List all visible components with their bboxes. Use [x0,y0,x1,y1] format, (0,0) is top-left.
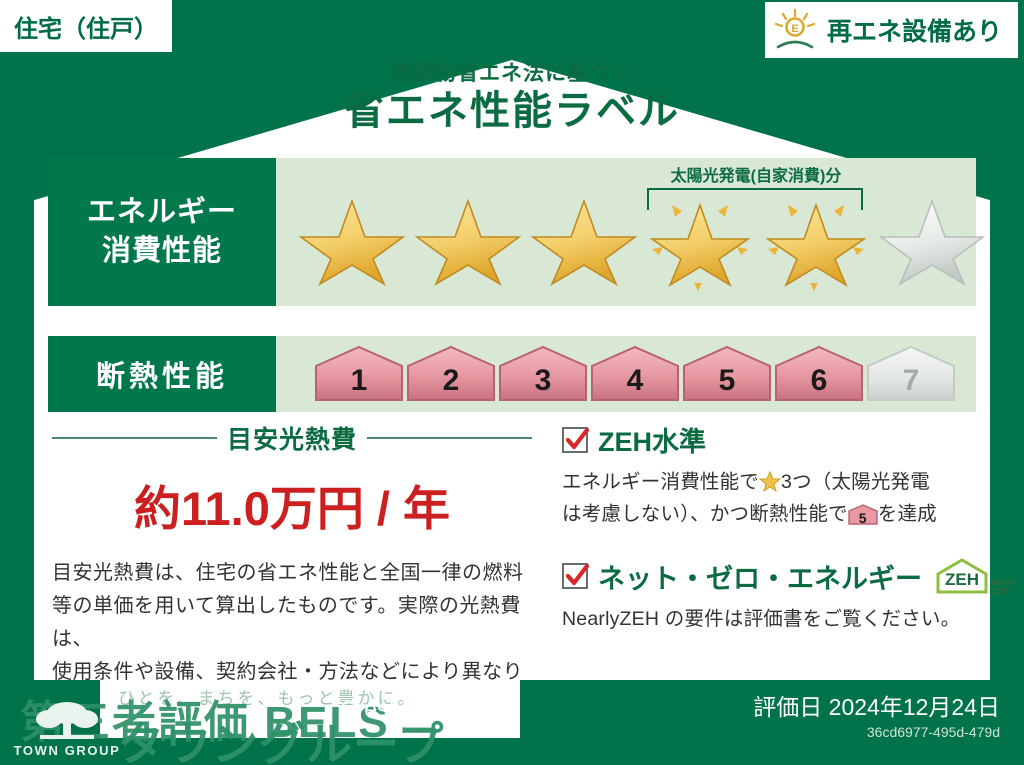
unit-room-number: 301 [448,696,486,722]
energy-key-line1: エネルギー [87,193,237,232]
star-filled-solar-icon [642,187,758,291]
tree-logo-icon [8,698,126,742]
zeh-desc-part-1: エネルギー消費性能で [562,471,759,493]
cost-note-line-1: 目安光熱費は、住宅の省エネ性能と全国一律の燃料 [52,557,532,590]
solar-bracket-label: 太陽光発電(自家消費)分 [626,162,886,186]
insulation-level-number: 5 [682,364,772,398]
insulation-house-icon: 5 [682,344,772,404]
insulation-house-icon: 2 [406,344,496,404]
zeh-desc-part-2: 3つ（太陽光発電 [781,471,930,493]
insulation-house-empty-icon: 7 [866,344,956,404]
evaluation-date: 評価日 2024年12月24日 [753,688,1000,722]
insulation-house-icon: 6 [774,344,864,404]
zeh-logo-sub-2: ZEH [992,587,1008,596]
energy-key-line2: 消費性能 [102,232,222,271]
star-rating [276,187,990,291]
zeh-desc-part-4: を達成 [878,503,937,525]
insulation-performance-value: 1 2 3 4 5 [276,336,976,412]
estimated-cost-label: 目安光熱費 [227,420,357,456]
label-subtitle: 建築物省エネ法に基づく [0,62,1024,85]
insulation-house-icon: 3 [498,344,588,404]
evaluation-date-block: 評価日 2024年12月24日 36cd6977-495d-479d [753,688,1000,740]
star-inline-icon [759,471,781,492]
star-empty-icon [874,187,990,291]
insulation-level-number: 2 [406,364,496,398]
insulation-level-number: 6 [774,364,864,398]
town-group-logo: TOWN GROUP [8,698,126,758]
heading-rule-right [367,437,532,439]
label-title: 省エネ性能ラベル [0,87,1024,136]
label-title-block: 建築物省エネ法に基づく 省エネ性能ラベル [0,62,1024,136]
zeh-standard-description: エネルギー消費性能で3つ（太陽光発電 は考慮しない）、かつ断熱性能で5を達成 [562,467,982,530]
zeh-logo-subtext: Nearly ZEH [992,579,1016,596]
insulation-performance-panel: 断熱性能 1 2 3 [48,336,976,412]
star-filled-icon [410,187,526,291]
solar-sun-icon: E [773,8,819,52]
cost-note-line-2: 等の単価を用いて算出したものです。実際の光熱費は、 [52,590,532,656]
insulation-level-scale: 1 2 3 4 5 [276,344,956,404]
energy-performance-value: 太陽光発電(自家消費)分 [276,158,990,306]
renewable-equipment-chip: E 再エネ設備あり [765,2,1018,58]
check-icon [562,427,588,453]
insulation-house-icon: 1 [314,344,404,404]
star-filled-solar-icon [758,187,874,291]
star-filled-icon [294,187,410,291]
zeh-certification-block: ZEH水準 エネルギー消費性能で3つ（太陽光発電 は考慮しない）、かつ断熱性能で… [562,420,982,636]
zeh-standard-title: ZEH水準 [598,420,706,459]
net-zero-energy-title: ネット・ゼロ・エネルギー [598,557,922,596]
energy-performance-panel: エネルギー 消費性能 太陽光発電(自家消費)分 [48,158,976,306]
town-group-wordmark: TOWN GROUP [8,743,126,758]
estimated-utility-cost-block: 目安光熱費 約11.0万円 / 年 目安光熱費は、住宅の省エネ性能と全国一律の燃… [52,420,532,722]
insulation-house-inline-icon: 5 [848,503,878,525]
renewable-equipment-label: 再エネ設備あり [827,12,1002,48]
insulation-level-number: 4 [590,364,680,398]
evaluation-id: 36cd6977-495d-479d [753,724,1000,740]
housing-type-label: 住宅（住戸） [14,9,158,44]
insulation-house-icon: 4 [590,344,680,404]
insulation-inline-number: 5 [848,507,878,530]
check-icon [562,563,588,589]
insulation-performance-key: 断熱性能 [48,336,276,412]
svg-text:E: E [791,23,798,35]
energy-performance-key: エネルギー 消費性能 [48,158,276,306]
estimated-cost-heading: 目安光熱費 [52,420,532,456]
estimated-cost-amount: 約11.0万円 / 年 [52,470,532,539]
insulation-level-number: 1 [314,364,404,398]
star-filled-icon [526,187,642,291]
svg-text:ZEH: ZEH [945,570,979,589]
insulation-level-number: 7 [866,364,956,398]
unit-name-block: Crestieq301 [340,696,486,723]
unit-building-name: Crestieq [340,696,426,722]
zeh-desc-part-3: は考慮しない）、かつ断熱性能で [562,503,848,525]
energy-performance-label: 住宅（住戸） E 再エネ設備あり 建築物省エネ法に基づく 省エネ性能ラベル [0,0,1024,765]
net-zero-energy-row: ネット・ゼロ・エネルギー ZEH Nearly ZEH [562,556,982,596]
heading-rule-left [52,437,217,439]
zeh-standard-row: ZEH水準 [562,420,982,459]
zeh-logo-icon: ZEH Nearly ZEH [932,556,992,596]
housing-type-chip: 住宅（住戸） [0,0,172,52]
net-zero-energy-description: NearlyZEH の要件は評価書をご覧ください。 [562,604,982,636]
insulation-level-number: 3 [498,364,588,398]
